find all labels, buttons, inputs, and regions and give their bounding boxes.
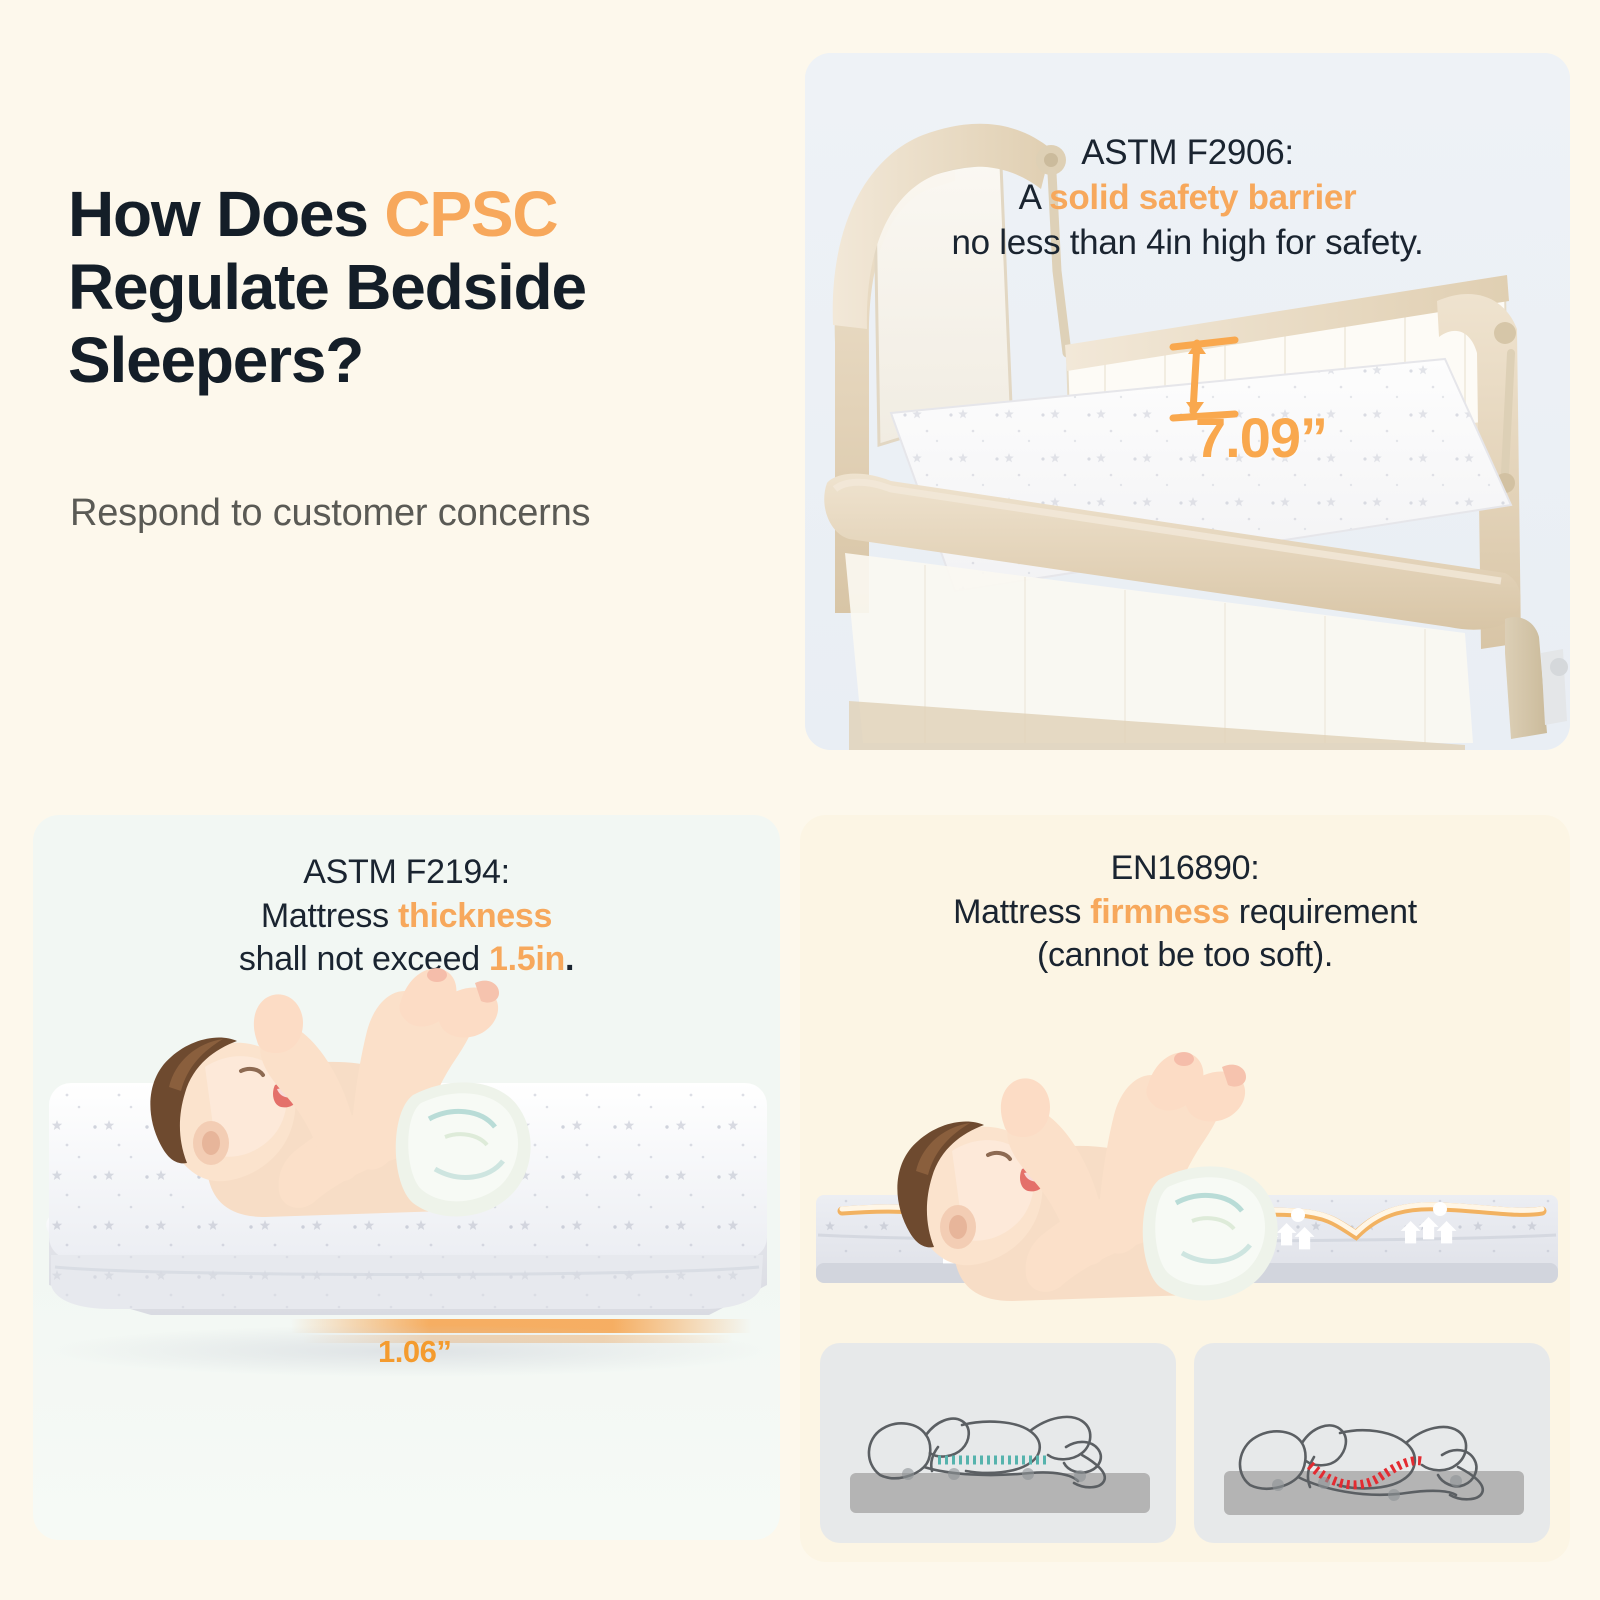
card-firm-correct-posture [820, 1343, 1176, 1543]
card-soft-incorrect-posture [1194, 1343, 1550, 1543]
title-part-2: Regulate Bedside [68, 251, 586, 323]
crib-standard: ASTM F2906: [805, 131, 1570, 176]
firmness-highlight: firmness [1090, 893, 1229, 931]
crib-highlight: solid safety barrier [1049, 178, 1356, 217]
comparison-cards [820, 1343, 1550, 1543]
incorrect-posture-diagram [1194, 1343, 1550, 1543]
crib-caption-line2: no less than 4in high for safety. [805, 221, 1570, 266]
firm-mattress-illustration [800, 963, 1570, 1353]
title-part-3: Sleepers? [68, 324, 363, 396]
title-accent-cpsc: CPSC [384, 178, 557, 250]
panel-mattress-firmness: EN16890: Mattress firmness requirement (… [800, 815, 1570, 1562]
panel-mattress-thickness: ASTM F2194: Mattress thickness shall not… [33, 815, 780, 1540]
firmness-caption: EN16890: Mattress firmness requirement (… [800, 847, 1570, 978]
panel-safety-barrier: ASTM F2906: A solid safety barrier no le… [805, 53, 1570, 750]
crib-caption-line1: A solid safety barrier [805, 176, 1570, 221]
dimension-label-7in: 7.09” [1195, 405, 1327, 470]
subtitle: Respond to customer concerns [70, 492, 590, 535]
firmness-caption-line1: Mattress firmness requirement [800, 891, 1570, 935]
page-title: How Does CPSC Regulate Bedside Sleepers? [68, 178, 768, 397]
headline-block: How Does CPSC Regulate Bedside Sleepers? [68, 178, 768, 397]
crib-caption: ASTM F2906: A solid safety barrier no le… [805, 131, 1570, 265]
title-part-1: How Does [68, 178, 384, 250]
infographic-canvas: How Does CPSC Regulate Bedside Sleepers?… [0, 0, 1600, 1600]
dimension-label-1in: 1.06” [378, 1334, 451, 1370]
correct-posture-diagram [820, 1343, 1176, 1543]
firmness-standard: EN16890: [800, 847, 1570, 891]
thin-mattress-illustration [33, 815, 780, 1540]
